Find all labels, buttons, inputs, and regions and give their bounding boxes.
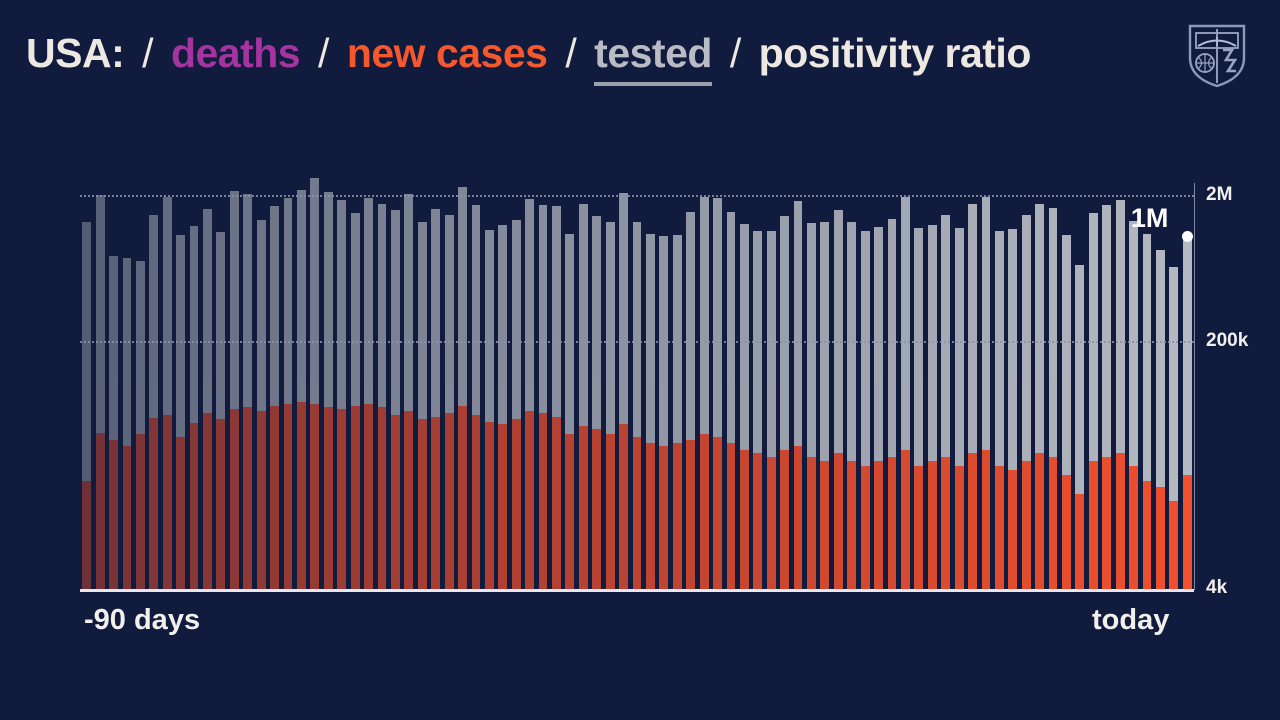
bar-segment-new-cases: [1035, 453, 1044, 589]
bar-segment-new-cases: [1102, 457, 1111, 589]
bar-column[interactable]: [995, 231, 1004, 589]
bar-segment-new-cases: [243, 407, 252, 589]
bar-segment-new-cases: [565, 434, 574, 589]
bar-column[interactable]: [257, 220, 266, 589]
bar-segment-new-cases: [606, 434, 615, 589]
bar-segment-new-cases: [914, 466, 923, 589]
bar-column[interactable]: [780, 216, 789, 589]
bar-column[interactable]: [391, 210, 400, 589]
bar-column[interactable]: [834, 210, 843, 589]
bar-segment-new-cases: [257, 411, 266, 589]
y-tick-label-200k: 200k: [1206, 330, 1248, 352]
bar-column[interactable]: [96, 195, 105, 589]
bar-column[interactable]: [646, 234, 655, 589]
bar-segment-new-cases: [780, 450, 789, 589]
bar-column[interactable]: [445, 215, 454, 589]
bar-segment-new-cases: [861, 466, 870, 589]
bar-segment-new-cases: [310, 404, 319, 589]
bar-column[interactable]: [297, 190, 306, 589]
bar-segment-new-cases: [794, 446, 803, 589]
bar-segment-new-cases: [431, 417, 440, 589]
bar-segment-new-cases: [955, 466, 964, 589]
bar-column[interactable]: [431, 209, 440, 589]
bar-column[interactable]: [364, 198, 373, 589]
bar-segment-new-cases: [472, 415, 481, 589]
bar-column[interactable]: [310, 178, 319, 589]
bar-segment-new-cases: [901, 450, 910, 589]
bar-segment-new-cases: [512, 419, 521, 589]
bar-segment-new-cases: [713, 437, 722, 589]
bar-column[interactable]: [243, 194, 252, 589]
bar-column[interactable]: [807, 223, 816, 589]
bar-segment-new-cases: [820, 461, 829, 589]
bar-segment-new-cases: [391, 415, 400, 589]
bar-column[interactable]: [740, 224, 749, 589]
bar-segment-new-cases: [270, 406, 279, 589]
bar-segment-new-cases: [1062, 475, 1071, 589]
bar-segment-new-cases: [203, 413, 212, 589]
bar-column[interactable]: [968, 204, 977, 589]
bar-column[interactable]: [1129, 221, 1138, 589]
bar-segment-new-cases: [96, 433, 105, 589]
x-axis-baseline: [80, 589, 1194, 592]
bar-column[interactable]: [512, 220, 521, 589]
bar-segment-new-cases: [404, 411, 413, 589]
bar-segment-new-cases: [727, 443, 736, 589]
bar-column[interactable]: [270, 206, 279, 589]
bar-segment-new-cases: [807, 457, 816, 589]
bar-column[interactable]: [149, 215, 158, 589]
gridline-200k: [80, 341, 1194, 343]
bar-segment-new-cases: [941, 457, 950, 589]
bar-segment-new-cases: [888, 457, 897, 589]
bar-segment-new-cases: [230, 409, 239, 589]
bar-column[interactable]: [525, 199, 534, 589]
plot-area: 1M: [80, 176, 1194, 590]
bar-column[interactable]: [136, 261, 145, 589]
bar-segment-new-cases: [485, 422, 494, 589]
x-axis-start-label: -90 days: [84, 604, 200, 637]
bar-column[interactable]: [901, 197, 910, 589]
bar-segment-new-cases: [337, 409, 346, 589]
bar-column[interactable]: [579, 204, 588, 589]
bar-column[interactable]: [928, 225, 937, 589]
bar-column[interactable]: [633, 222, 642, 589]
bar-segment-new-cases: [673, 443, 682, 589]
bar-column[interactable]: [700, 197, 709, 589]
bar-segment-new-cases: [216, 419, 225, 589]
bar-column[interactable]: [619, 193, 628, 589]
y-tick-label-4k: 4k: [1206, 577, 1227, 599]
bar-column[interactable]: [176, 235, 185, 589]
bar-column[interactable]: [404, 194, 413, 589]
x-axis-end-label: today: [1092, 604, 1169, 637]
bar-segment-new-cases: [445, 413, 454, 589]
bar-segment-new-cases: [418, 419, 427, 589]
gridline-2m: [80, 195, 1194, 197]
bar-segment-new-cases: [176, 437, 185, 589]
bar-segment-new-cases: [498, 424, 507, 589]
bar-segment-new-cases: [1183, 475, 1192, 589]
bar-segment-new-cases: [378, 407, 387, 589]
bar-column[interactable]: [230, 191, 239, 589]
bar-column[interactable]: [498, 225, 507, 589]
bar-column[interactable]: [378, 204, 387, 590]
bar-column[interactable]: [1075, 265, 1084, 589]
bar-column[interactable]: [1008, 229, 1017, 589]
bar-segment-new-cases: [136, 434, 145, 589]
bar-column[interactable]: [565, 234, 574, 589]
bar-segment-new-cases: [364, 404, 373, 589]
bar-segment-new-cases: [740, 450, 749, 589]
bar-segment-new-cases: [928, 461, 937, 589]
bar-column[interactable]: [1035, 204, 1044, 590]
bar-segment-new-cases: [753, 453, 762, 589]
bar-segment-new-cases: [297, 402, 306, 589]
bar-segment-new-cases: [995, 466, 1004, 589]
bar-segment-new-cases: [1049, 457, 1058, 589]
bar-segment-new-cases: [686, 440, 695, 589]
bar-column[interactable]: [861, 231, 870, 589]
bar-column[interactable]: [1062, 235, 1071, 589]
bar-segment-new-cases: [1116, 453, 1125, 589]
bar-column[interactable]: [216, 232, 225, 589]
bar-column[interactable]: [659, 236, 668, 589]
bar-segment-new-cases: [1022, 461, 1031, 589]
bar-column[interactable]: [753, 231, 762, 589]
bar-column[interactable]: [767, 231, 776, 589]
bar-segment-new-cases: [646, 443, 655, 589]
bar-column[interactable]: [324, 192, 333, 589]
bar-column[interactable]: [955, 228, 964, 589]
bar-segment-new-cases: [579, 426, 588, 589]
app-root: USA: / deaths / new cases / tested / pos…: [0, 0, 1280, 720]
bar-column[interactable]: [794, 201, 803, 589]
bar-column[interactable]: [163, 197, 172, 589]
bar-segment-new-cases: [552, 417, 561, 589]
bar-segment-new-cases: [633, 437, 642, 589]
bar-column[interactable]: [418, 222, 427, 590]
bar-column[interactable]: [82, 222, 91, 589]
bar-series-container: [80, 176, 1194, 590]
bar-segment-new-cases: [351, 406, 360, 589]
bar-column[interactable]: [552, 206, 561, 589]
bar-segment-new-cases: [874, 461, 883, 589]
tested-bar-chart: 1M 2M 200k 4k -90 days today: [0, 0, 1280, 720]
latest-value-dot-marker: [1182, 231, 1193, 242]
bar-segment-new-cases: [1156, 487, 1165, 589]
bar-segment-new-cases: [619, 424, 628, 589]
bar-segment-new-cases: [1089, 461, 1098, 589]
bar-segment-new-cases: [834, 453, 843, 589]
y-axis-line: [1194, 183, 1195, 590]
bar-column[interactable]: [1102, 205, 1111, 589]
bar-segment-new-cases: [1169, 501, 1178, 589]
bar-segment-new-cases: [700, 434, 709, 589]
bar-segment-new-cases: [190, 423, 199, 589]
bar-segment-new-cases: [163, 415, 172, 589]
bar-segment-new-cases: [539, 413, 548, 589]
bar-column[interactable]: [914, 228, 923, 589]
bar-segment-new-cases: [1075, 494, 1084, 589]
bar-segment-new-cases: [847, 461, 856, 589]
bar-segment-new-cases: [149, 418, 158, 589]
bar-column[interactable]: [982, 197, 991, 589]
bar-column[interactable]: [874, 227, 883, 589]
bar-column[interactable]: [686, 212, 695, 589]
bar-column[interactable]: [1116, 200, 1125, 589]
bar-column[interactable]: [472, 205, 481, 589]
bar-column[interactable]: [1156, 250, 1165, 589]
y-tick-label-2m: 2M: [1206, 184, 1232, 206]
bar-column[interactable]: [539, 205, 548, 589]
bar-column[interactable]: [847, 222, 856, 589]
bar-column[interactable]: [351, 213, 360, 589]
bar-column[interactable]: [337, 200, 346, 589]
bar-column[interactable]: [606, 222, 615, 589]
bar-column[interactable]: [1049, 208, 1058, 589]
bar-segment-new-cases: [1008, 470, 1017, 589]
bar-segment-new-cases: [1143, 481, 1152, 589]
bar-segment-new-cases: [982, 450, 991, 589]
bar-segment-new-cases: [1129, 466, 1138, 589]
bar-segment-new-cases: [82, 481, 91, 589]
latest-value-label: 1M: [1131, 203, 1169, 234]
bar-segment-new-cases: [767, 457, 776, 589]
bar-column[interactable]: [1022, 215, 1031, 589]
bar-column[interactable]: [109, 256, 118, 589]
bar-column[interactable]: [203, 209, 212, 589]
bar-column[interactable]: [284, 198, 293, 589]
bar-column[interactable]: [1143, 234, 1152, 589]
bar-segment-new-cases: [968, 453, 977, 589]
bar-segment-new-cases: [109, 440, 118, 589]
bar-column[interactable]: [820, 222, 829, 590]
bar-segment-new-cases: [659, 446, 668, 589]
bar-column[interactable]: [673, 235, 682, 589]
bar-column[interactable]: [713, 198, 722, 589]
bar-segment-new-cases: [592, 429, 601, 589]
bar-column[interactable]: [190, 226, 199, 589]
bar-column[interactable]: [485, 230, 494, 589]
bar-column[interactable]: [727, 212, 736, 589]
bar-column[interactable]: [1183, 237, 1192, 589]
bar-column[interactable]: [1089, 213, 1098, 589]
bar-column[interactable]: [592, 216, 601, 589]
bar-segment-new-cases: [525, 411, 534, 589]
bar-column[interactable]: [888, 219, 897, 589]
bar-segment-new-cases: [123, 446, 132, 589]
bar-column[interactable]: [458, 187, 467, 589]
bar-column[interactable]: [1169, 267, 1178, 589]
bar-segment-new-cases: [324, 407, 333, 589]
bar-segment-new-cases: [458, 406, 467, 589]
bar-segment-new-cases: [284, 404, 293, 589]
bar-column[interactable]: [941, 215, 950, 589]
bar-column[interactable]: [123, 258, 132, 589]
